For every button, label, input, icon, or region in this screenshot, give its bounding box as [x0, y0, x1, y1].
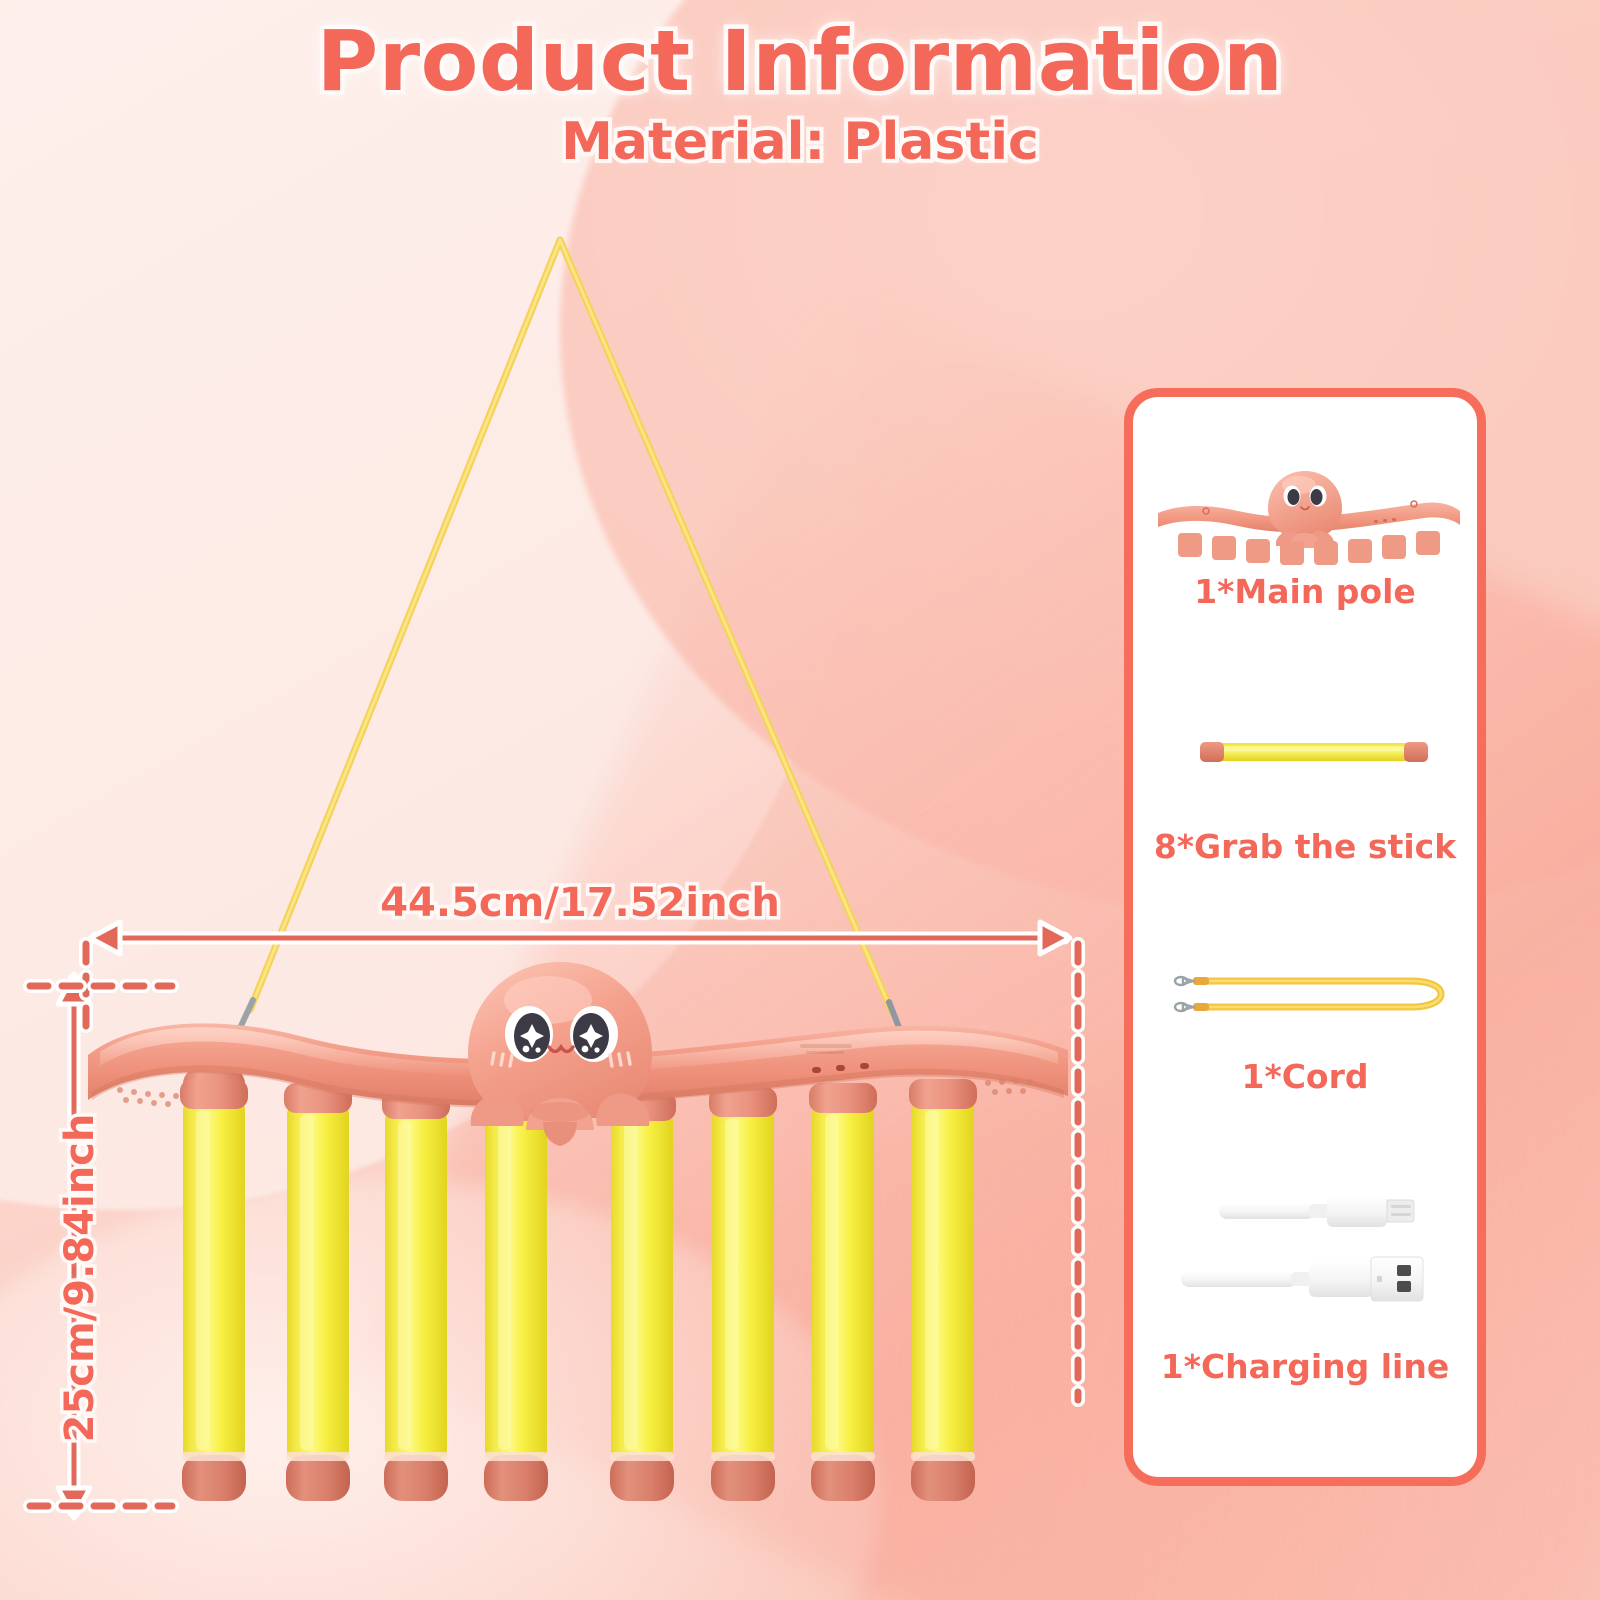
charging-line-thumbnail-icon — [1163, 1177, 1463, 1327]
product-information-image: Product Information Material: Plastic — [0, 0, 1600, 1600]
grab-stick-thumbnail-icon — [1194, 735, 1434, 769]
width-dimension-label: 44.5cm/17.52inch — [300, 880, 860, 926]
octopus-head-icon — [468, 962, 652, 1146]
cord-clip-bottom — [1175, 1003, 1209, 1011]
usb-a-connector-icon — [1181, 1257, 1423, 1301]
grab-stick — [709, 1087, 777, 1501]
micro-usb-connector-icon — [1219, 1195, 1414, 1227]
grab-stick — [382, 1089, 450, 1501]
cord-clip-top — [1175, 977, 1209, 985]
grab-stick — [608, 1091, 676, 1501]
width-dimension-arrow — [90, 922, 1070, 954]
main-pole-thumbnail-icon — [1142, 463, 1468, 573]
cord-thumbnail-icon — [1163, 959, 1463, 1029]
pole-texture-left — [117, 1087, 179, 1107]
grab-stick — [909, 1079, 977, 1501]
panel-item-label-main-pole: 1*Main pole — [1133, 572, 1477, 611]
grab-stick — [180, 1062, 248, 1501]
panel-item-label-charging-line: 1*Charging line — [1133, 1347, 1477, 1386]
grab-stick — [809, 1083, 877, 1501]
grab-stick — [284, 1083, 352, 1501]
height-dimension-label: 25cm/9.84inch — [57, 1058, 103, 1498]
panel-item-label-cord: 1*Cord — [1133, 1057, 1477, 1096]
panel-item-label-grab-stick: 8*Grab the stick — [1133, 827, 1477, 866]
package-contents-panel: 1*Main pole 8*Grab the stick — [1124, 388, 1486, 1486]
grab-stick — [482, 1091, 550, 1501]
